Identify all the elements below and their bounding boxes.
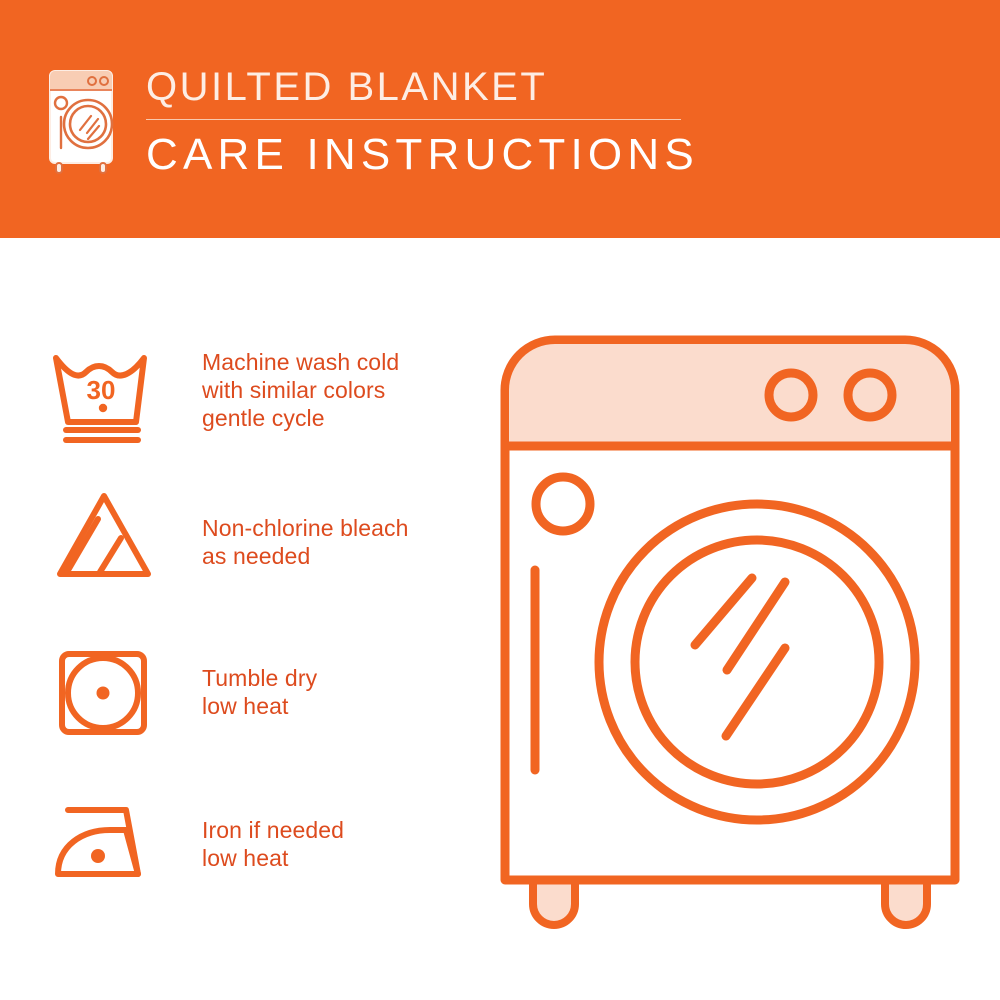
care-instruction-list: 30 Machine wash cold with similar colors… xyxy=(0,238,500,1000)
care-row-iron: Iron if needed low heat xyxy=(48,794,488,898)
care-text-tumble-dry: Tumble dry low heat xyxy=(202,642,317,720)
care-row-machine-wash: 30 Machine wash cold with similar colors… xyxy=(48,346,488,450)
tumble-dry-low-icon xyxy=(48,642,160,746)
header-band: QUILTED BLANKET CARE INSTRUCTIONS xyxy=(0,0,1000,238)
care-text-bleach: Non-chlorine bleach as needed xyxy=(202,486,408,570)
care-text-iron: Iron if needed low heat xyxy=(202,794,344,872)
care-text-machine-wash: Machine wash cold with similar colors ge… xyxy=(202,346,399,432)
control-panel xyxy=(509,344,951,446)
care-row-bleach: Non-chlorine bleach as needed xyxy=(48,486,488,590)
page-subtitle: CARE INSTRUCTIONS xyxy=(146,130,699,180)
wash-tub-30-icon: 30 xyxy=(48,346,160,450)
iron-low-icon xyxy=(48,794,160,898)
wash-temperature-label: 30 xyxy=(87,375,116,405)
header-title-block: QUILTED BLANKET CARE INSTRUCTIONS xyxy=(146,62,699,180)
care-row-tumble-dry: Tumble dry low heat xyxy=(48,642,488,746)
title-divider xyxy=(146,119,681,120)
front-load-washing-machine-illustration xyxy=(495,330,965,940)
triangle-non-chlorine-bleach-icon xyxy=(48,486,160,590)
care-instructions-infographic: QUILTED BLANKET CARE INSTRUCTIONS 30 xyxy=(0,0,1000,1000)
header-content: QUILTED BLANKET CARE INSTRUCTIONS xyxy=(44,62,699,180)
page-title: QUILTED BLANKET xyxy=(146,64,699,110)
washing-machine-icon xyxy=(44,66,122,176)
